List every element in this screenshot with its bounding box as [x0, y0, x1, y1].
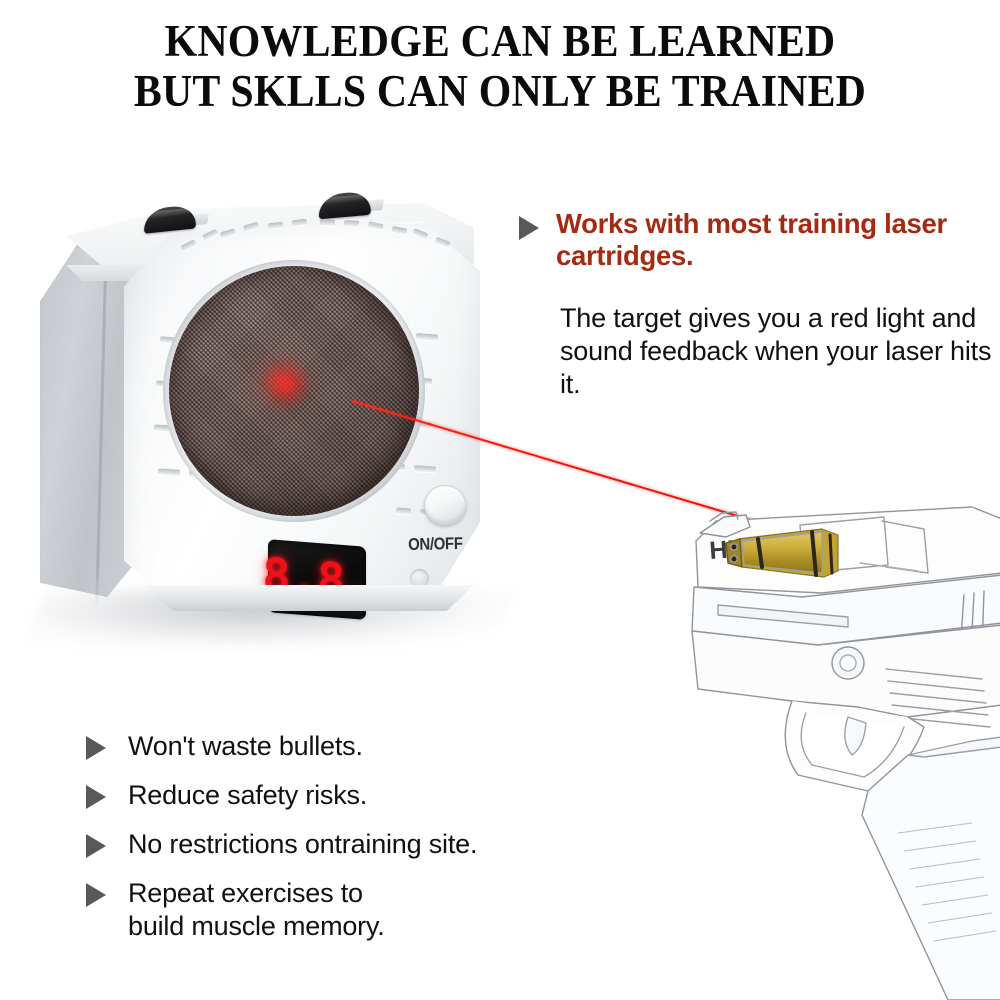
feature-title: Works with most training laser cartridge… — [556, 208, 947, 271]
page-title: KNOWLEDGE CAN BE LEARNED BUT SKLLS CAN O… — [35, 16, 965, 116]
training-pistol: HK USP — [672, 455, 1000, 1000]
triangle-right-icon — [86, 736, 106, 760]
infographic-page: KNOWLEDGE CAN BE LEARNED BUT SKLLS CAN O… — [0, 0, 1000, 1000]
triangle-right-icon — [86, 785, 106, 809]
benefits-list: Won't waste bullets. Reduce safety risks… — [78, 730, 638, 959]
laser-impact-glow — [260, 357, 314, 411]
laser-training-target-device: ON/OFF 8.8. — [28, 185, 528, 695]
triangle-right-icon — [86, 883, 106, 907]
list-item: Reduce safety risks. — [78, 779, 638, 812]
benefit-text-line2: build muscle memory. — [128, 910, 638, 943]
triangle-right-icon — [86, 834, 106, 858]
list-item: No restrictions ontraining site. — [78, 828, 638, 861]
power-button-label: ON/OFF — [408, 534, 463, 555]
list-item: Repeat exercises to build muscle memory. — [78, 877, 638, 943]
device-bottom-bevel — [132, 585, 474, 611]
feature-title-row: Works with most training laser cartridge… — [516, 208, 996, 272]
list-item: Won't waste bullets. — [78, 730, 638, 763]
feature-block: Works with most training laser cartridge… — [516, 208, 996, 401]
headline-line-1: KNOWLEDGE CAN BE LEARNED — [35, 16, 965, 66]
benefit-text: Reduce safety risks. — [128, 780, 367, 810]
feature-body: The target gives you a red light and sou… — [516, 302, 996, 401]
headline-line-2: BUT SKLLS CAN ONLY BE TRAINED — [35, 66, 965, 116]
benefit-text: Repeat exercises to — [128, 878, 363, 908]
rotary-knob-right[interactable] — [319, 191, 371, 220]
triangle-right-icon — [519, 216, 539, 240]
benefit-text: Won't waste bullets. — [128, 731, 363, 761]
benefit-text: No restrictions ontraining site. — [128, 829, 477, 859]
power-button[interactable] — [424, 485, 466, 525]
